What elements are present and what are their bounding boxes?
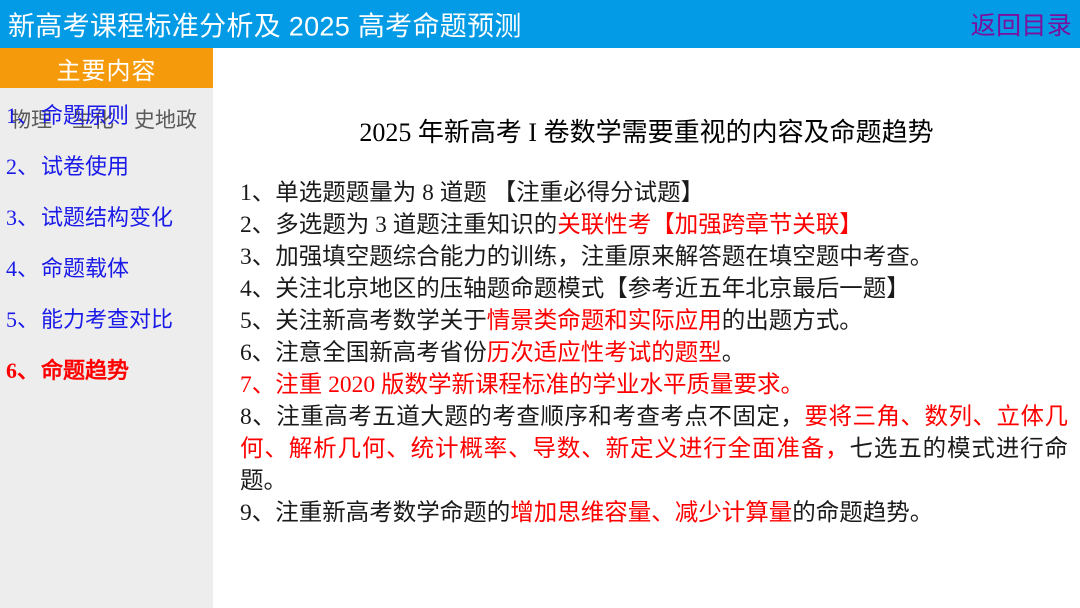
- header-bar: 新高考课程标准分析及 2025 高考命题预测 返回目录: [0, 0, 1080, 48]
- line-9: 9、注重新高考数学命题的增加思维容量、减少计算量的命题趋势。: [240, 497, 1068, 529]
- sidebar-header: 主要内容: [0, 48, 213, 88]
- line-6: 6、注意全国新高考省份历次适应性考试的题型。: [240, 337, 1068, 369]
- line-7-seg-1: 7、注重 2020 版数学新课程标准的学业水平质量要求。: [240, 372, 804, 398]
- sidebar-item-2[interactable]: 2、试卷使用: [0, 139, 213, 190]
- page-title: 新高考课程标准分析及 2025 高考命题预测: [8, 5, 522, 44]
- line-6-seg-1: 6、注意全国新高考省份: [240, 340, 487, 366]
- sidebar-nav: 1、命题原则2、试卷使用3、试题结构变化4、命题载体5、能力考查对比6、命题趋势: [0, 88, 213, 394]
- sidebar-item-label: 命题趋势: [41, 353, 129, 385]
- sidebar-item-3[interactable]: 3、试题结构变化: [0, 190, 213, 241]
- sidebar-item-index: 1、: [6, 98, 39, 130]
- back-to-contents-link[interactable]: 返回目录: [971, 6, 1072, 42]
- sidebar-item-1[interactable]: 1、命题原则: [0, 88, 213, 139]
- sidebar-item-index: 4、: [6, 251, 39, 283]
- line-6-seg-2: 历次适应性考试的题型: [487, 340, 722, 366]
- sidebar-item-index: 2、: [6, 149, 39, 181]
- sidebar-item-index: 6、: [6, 353, 39, 385]
- line-3: 3、加强填空题综合能力的训练，注重原来解答题在填空题中考查。: [240, 241, 1068, 273]
- line-5-seg-1: 5、关注新高考数学关于: [240, 308, 487, 334]
- line-2-seg-1: 2、多选题为 3 道题注重知识的: [240, 212, 557, 238]
- sidebar-item-label: 能力考查对比: [41, 302, 173, 334]
- sidebar-item-4[interactable]: 4、命题载体: [0, 241, 213, 292]
- line-5: 5、关注新高考数学关于情景类命题和实际应用的出题方式。: [240, 305, 1068, 337]
- main-content: 2025 年新高考 I 卷数学需要重视的内容及命题趋势 1、单选题题量为 8 道…: [213, 48, 1080, 608]
- line-4: 4、关注北京地区的压轴题命题模式【参考近五年北京最后一题】: [240, 273, 1068, 305]
- sidebar-header-label: 主要内容: [57, 51, 157, 86]
- line-7: 7、注重 2020 版数学新课程标准的学业水平质量要求。: [240, 369, 1068, 401]
- line-1: 1、单选题题量为 8 道题 【注重必得分试题】: [240, 177, 1068, 209]
- line-1-seg-1: 1、单选题题量为 8 道题 【注重必得分试题】: [240, 180, 704, 206]
- line-5-seg-2: 情景类命题和实际应用: [487, 308, 722, 334]
- line-8-seg-1: 8、注重高考五道大题的考查顺序和考查考点不固定，: [240, 404, 804, 430]
- sidebar-item-label: 命题载体: [41, 251, 129, 283]
- sidebar-item-5[interactable]: 5、能力考查对比: [0, 292, 213, 343]
- sidebar: 主要内容 1、命题原则2、试卷使用3、试题结构变化4、命题载体5、能力考查对比6…: [0, 48, 213, 608]
- line-6-seg-3: 。: [722, 340, 746, 366]
- sidebar-item-label: 命题原则: [41, 98, 129, 130]
- line-5-seg-3: 的出题方式。: [722, 308, 863, 334]
- sidebar-item-6[interactable]: 6、命题趋势: [0, 343, 213, 394]
- line-2: 2、多选题为 3 道题注重知识的关联性考【加强跨章节关联】: [240, 209, 1068, 241]
- line-8: 8、注重高考五道大题的考查顺序和考查考点不固定，要将三角、数列、立体几何、解析几…: [240, 401, 1068, 497]
- slide-root: 新高考课程标准分析及 2025 高考命题预测 返回目录 主要内容 1、命题原则2…: [0, 0, 1080, 608]
- sidebar-item-label: 试卷使用: [41, 149, 129, 181]
- sidebar-item-index: 3、: [6, 200, 39, 232]
- sidebar-item-index: 5、: [6, 302, 39, 334]
- line-9-seg-2: 增加思维容量、减少计算量: [510, 500, 792, 526]
- line-4-seg-1: 4、关注北京地区的压轴题命题模式【参考近五年北京最后一题】: [240, 276, 910, 302]
- line-9-seg-1: 9、注重新高考数学命题的: [240, 500, 510, 526]
- content-body: 1、单选题题量为 8 道题 【注重必得分试题】2、多选题为 3 道题注重知识的关…: [240, 177, 1068, 529]
- line-3-seg-1: 3、加强填空题综合能力的训练，注重原来解答题在填空题中考查。: [240, 244, 933, 270]
- sidebar-item-label: 试题结构变化: [41, 200, 173, 232]
- line-2-seg-2: 关联性考【加强跨章节关联】: [557, 212, 863, 238]
- content-heading: 2025 年新高考 I 卷数学需要重视的内容及命题趋势: [213, 112, 1080, 149]
- line-9-seg-3: 的命题趋势。: [792, 500, 933, 526]
